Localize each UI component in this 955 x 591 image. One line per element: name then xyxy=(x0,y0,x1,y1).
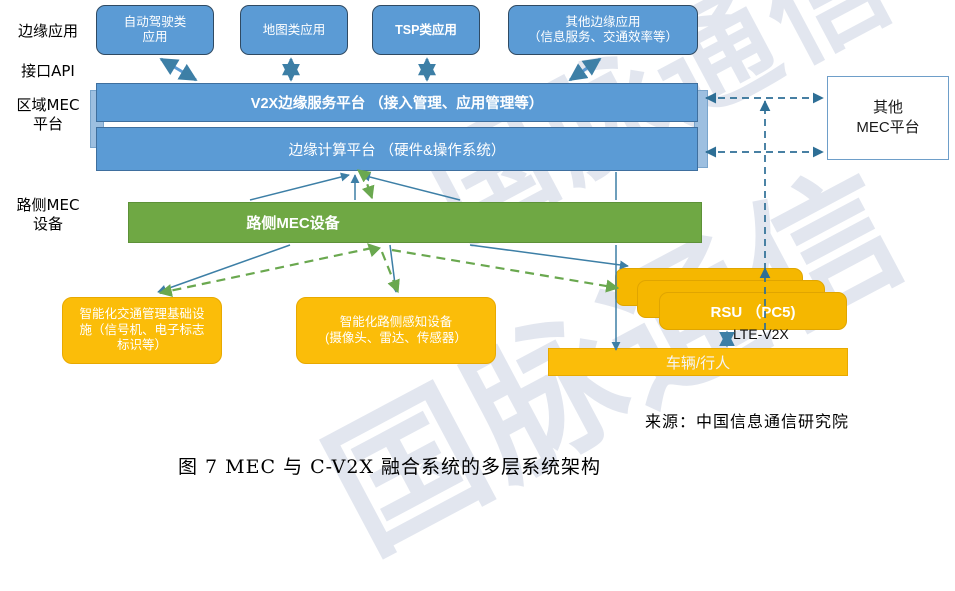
device-label-line3: 标识等） xyxy=(117,338,167,354)
app-label-line1: TSP类应用 xyxy=(395,23,457,38)
app-label-line1: 地图类应用 xyxy=(263,23,326,38)
platform-bar-edge-computing[interactable]: 边缘计算平台 （硬件&操作系统） xyxy=(96,127,698,171)
device-label-line1: 智能化交通管理基础设 xyxy=(79,307,204,323)
roadside-mec-equipment-box[interactable]: 路侧MEC设备 xyxy=(128,202,702,243)
vehicle-pedestrian-bar[interactable]: 车辆/行人 xyxy=(548,348,848,376)
vehicle-pedestrian-label: 车辆/行人 xyxy=(666,352,730,373)
platform-bar-label: 边缘计算平台 （硬件&操作系统） xyxy=(289,139,506,160)
app-label-line2: （信息服务、交通效率等） xyxy=(528,30,678,45)
row-label-edge-application: 边缘应用 xyxy=(2,22,94,41)
other-mec-label-line2: MEC平台 xyxy=(856,118,919,138)
app-box-map-application[interactable]: 地图类应用 xyxy=(240,5,348,55)
source-text: 来源：中国信息通信研究院 xyxy=(645,408,849,432)
roadside-mec-label: 路侧MEC设备 xyxy=(246,212,339,233)
row-label-regional-mec-platform: 区域MEC 平台 xyxy=(2,96,94,134)
other-mec-label-line1: 其他 xyxy=(873,98,903,118)
platform-bar-label: V2X边缘服务平台 （接入管理、应用管理等） xyxy=(251,92,543,113)
app-box-tsp-application[interactable]: TSP类应用 xyxy=(372,5,480,55)
rsu-label: RSU （PC5) xyxy=(710,301,795,322)
device-label-line1: 智能化路侧感知设备 xyxy=(340,315,453,331)
device-label-line2: 施（信号机、电子标志 xyxy=(79,323,204,339)
app-box-autonomous-driving[interactable]: 自动驾驶类 应用 xyxy=(96,5,214,55)
device-box-traffic-management-infrastructure[interactable]: 智能化交通管理基础设 施（信号机、电子标志 标识等） xyxy=(62,297,222,364)
app-label-line2: 应用 xyxy=(142,30,167,45)
app-label-line1: 其他边缘应用 xyxy=(565,15,640,30)
row-label-interface-api: 接口API xyxy=(2,62,94,81)
rsu-box-front[interactable]: RSU （PC5) xyxy=(659,292,847,330)
figure-caption: 图 7 MEC 与 C-V2X 融合系统的多层系统架构 xyxy=(178,452,601,479)
device-box-roadside-sensing-equipment[interactable]: 智能化路侧感知设备 (摄像头、雷达、传感器） xyxy=(296,297,496,364)
diagram-canvas: 国脉通信 国脉通信 边缘应用 接口API 区域MEC 平台 路侧MEC 设备 自… xyxy=(0,0,955,493)
device-label-line2: (摄像头、雷达、传感器） xyxy=(325,331,467,347)
lte-v2x-link-label: LTE-V2X xyxy=(733,326,789,342)
other-mec-platform-box[interactable]: 其他 MEC平台 xyxy=(827,76,949,160)
app-box-other-edge-application[interactable]: 其他边缘应用 （信息服务、交通效率等） xyxy=(508,5,698,55)
app-label-line1: 自动驾驶类 xyxy=(124,15,187,30)
platform-bar-v2x-edge-service[interactable]: V2X边缘服务平台 （接入管理、应用管理等） xyxy=(96,83,698,122)
row-label-roadside-mec-equipment: 路侧MEC 设备 xyxy=(2,196,94,234)
